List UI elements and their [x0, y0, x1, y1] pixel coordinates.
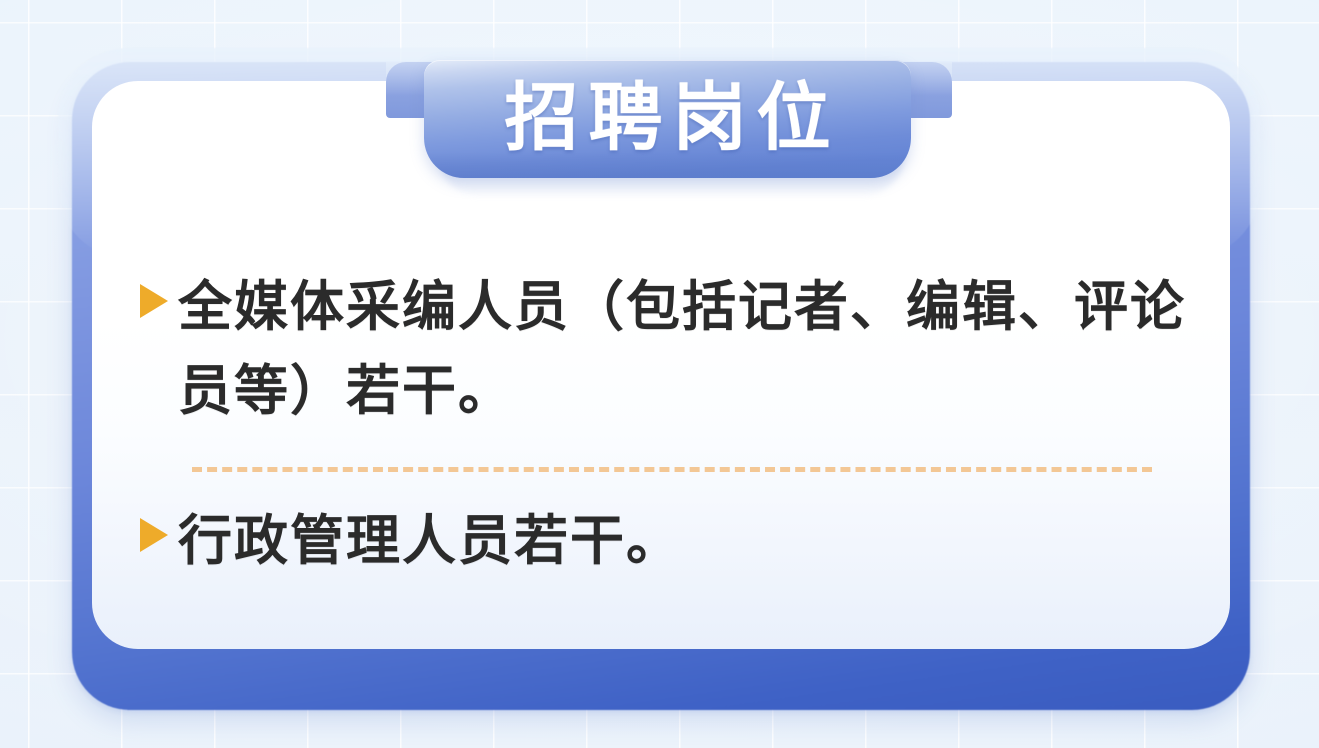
triangle-right-icon: [140, 518, 168, 552]
list-item-label: 全媒体采编人员（包括记者、编辑、评论员等）若干。: [178, 265, 1200, 433]
triangle-right-icon: [140, 284, 168, 318]
list-item-label: 行政管理人员若干。: [178, 499, 1200, 583]
content-area: 全媒体采编人员（包括记者、编辑、评论员等）若干。 行政管理人员若干。: [92, 81, 1230, 649]
list-item: 全媒体采编人员（包括记者、编辑、评论员等）若干。: [140, 265, 1200, 433]
list-item: 行政管理人员若干。: [140, 499, 1200, 583]
poster-stage: 招聘岗位 全媒体采编人员（包括记者、编辑、评论员等）若干。 行政管理人员若干。: [0, 0, 1319, 748]
dashed-divider: [192, 467, 1152, 472]
